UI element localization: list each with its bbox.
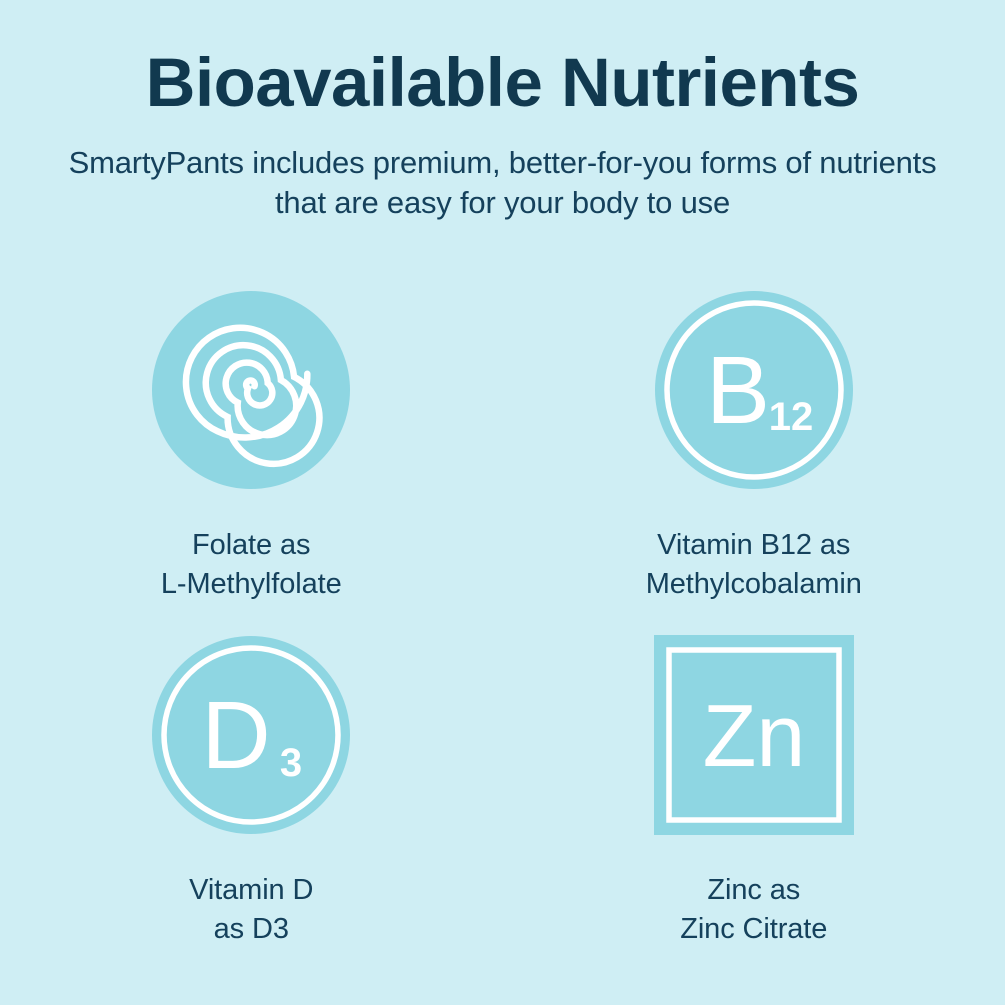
d3-glyph-letter: D [202, 682, 271, 789]
zinc-glyph-letters: Zn [702, 686, 805, 785]
nutrient-caption: Zinc as Zinc Citrate [680, 871, 827, 948]
spiral-circle-icon [151, 290, 351, 490]
nutrient-line-2: Zinc Citrate [680, 910, 827, 949]
b12-glyph-subscript: 12 [769, 395, 814, 439]
nutrient-line-1: Vitamin B12 as [657, 529, 850, 561]
nutrient-line-2: as D3 [189, 910, 313, 949]
nutrient-card-b12: B 12 Vitamin B12 as Methylcobalamin [503, 290, 1005, 635]
nutrient-caption: Vitamin B12 as Methylcobalamin [646, 526, 862, 603]
nutrient-line-1: Zinc as [707, 874, 800, 906]
zinc-square-icon: Zn [654, 635, 854, 835]
nutrient-line-2: Methylcobalamin [646, 565, 862, 604]
nutrient-card-zinc: Zn Zinc as Zinc Citrate [503, 635, 1005, 980]
nutrient-caption: Vitamin D as D3 [189, 871, 313, 948]
b12-glyph-letter: B [706, 337, 770, 444]
b12-circle-icon: B 12 [654, 290, 854, 490]
nutrient-card-folate: Folate as L-Methylfolate [0, 290, 503, 635]
nutrient-grid: Folate as L-Methylfolate B 12 Vitamin B1… [0, 290, 1005, 980]
header: Bioavailable Nutrients SmartyPants inclu… [0, 0, 1005, 222]
nutrient-line-2: L-Methylfolate [161, 565, 342, 604]
infographic-page: Bioavailable Nutrients SmartyPants inclu… [0, 0, 1005, 1005]
nutrient-line-1: Folate as [192, 529, 310, 561]
page-title: Bioavailable Nutrients [0, 46, 1005, 119]
page-subtitle: SmartyPants includes premium, better-for… [53, 143, 953, 222]
nutrient-caption: Folate as L-Methylfolate [161, 526, 342, 603]
d3-glyph-subscript: 3 [280, 741, 302, 785]
nutrient-card-vitamin-d: D 3 Vitamin D as D3 [0, 635, 503, 980]
d3-circle-icon: D 3 [151, 635, 351, 835]
nutrient-line-1: Vitamin D [189, 874, 313, 906]
